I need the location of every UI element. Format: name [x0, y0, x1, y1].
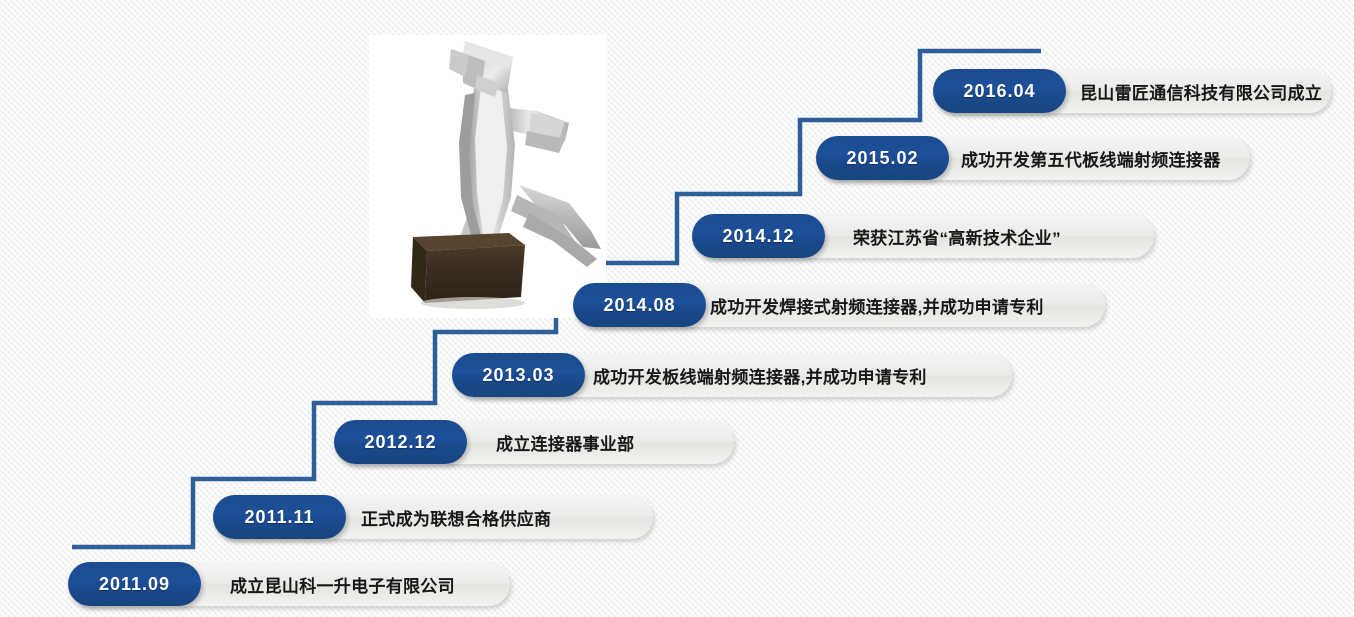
milestone-row[interactable]: 成功开发焊接式射频连接器,并成功申请专利2014.08 [573, 283, 1105, 327]
milestone-date: 2014.12 [722, 226, 794, 247]
company-sculpture-photo [369, 35, 606, 318]
milestone-date: 2011.09 [99, 574, 170, 595]
milestone-date: 2012.12 [364, 432, 436, 453]
milestone-row[interactable]: 成立连接器事业部2012.12 [334, 420, 734, 464]
milestone-text: 昆山雷匠通信科技有限公司成立 [1080, 79, 1322, 104]
milestone-row[interactable]: 正式成为联想合格供应商2011.11 [213, 495, 653, 539]
milestone-date-pill[interactable]: 2016.04 [933, 69, 1066, 113]
milestone-text: 荣获江苏省“高新技术企业” [853, 224, 1061, 249]
milestone-date: 2011.11 [244, 507, 314, 528]
milestone-date-pill[interactable]: 2015.02 [816, 136, 949, 180]
milestone-row[interactable]: 成功开发板线端射频连接器,并成功申请专利2013.03 [452, 353, 1012, 397]
milestone-text: 成立昆山科一升电子有限公司 [230, 572, 455, 597]
milestone-date-pill[interactable]: 2011.09 [68, 562, 201, 606]
milestone-date: 2013.03 [482, 365, 554, 386]
milestone-date: 2014.08 [603, 295, 675, 316]
milestone-row[interactable]: 荣获江苏省“高新技术企业”2014.12 [692, 214, 1154, 258]
milestone-row[interactable]: 成功开发第五代板线端射频连接器2015.02 [816, 136, 1250, 180]
milestone-date: 2015.02 [846, 148, 918, 169]
milestone-date-pill[interactable]: 2014.12 [692, 214, 825, 258]
milestone-text: 成功开发板线端射频连接器,并成功申请专利 [593, 363, 927, 388]
milestone-text: 成功开发焊接式射频连接器,并成功申请专利 [710, 293, 1044, 318]
milestone-date-pill[interactable]: 2011.11 [213, 495, 346, 539]
milestone-date-pill[interactable]: 2012.12 [334, 420, 467, 464]
milestone-text: 成立连接器事业部 [496, 430, 634, 455]
milestone-row[interactable]: 昆山雷匠通信科技有限公司成立2016.04 [933, 69, 1331, 113]
milestone-row[interactable]: 成立昆山科一升电子有限公司2011.09 [68, 562, 510, 606]
milestone-date-pill[interactable]: 2014.08 [573, 283, 706, 327]
timeline-canvas: 成立昆山科一升电子有限公司2011.09正式成为联想合格供应商2011.11成立… [0, 0, 1354, 617]
milestone-text: 成功开发第五代板线端射频连接器 [961, 146, 1221, 171]
milestone-date: 2016.04 [963, 81, 1035, 102]
milestone-date-pill[interactable]: 2013.03 [452, 353, 585, 397]
milestone-text: 正式成为联想合格供应商 [361, 505, 551, 530]
